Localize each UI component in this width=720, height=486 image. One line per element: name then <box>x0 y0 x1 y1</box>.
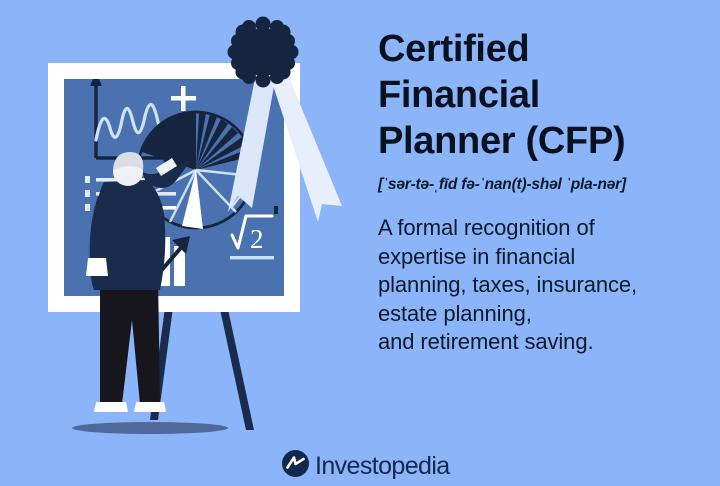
term-text-column: Certified Financial Planner (CFP) [ˈsər-… <box>378 26 708 357</box>
presenter-hand-left <box>86 258 108 276</box>
definition-card: 2 <box>0 0 720 486</box>
investopedia-logo: Investopedia <box>282 450 450 482</box>
floor-shadow <box>72 422 228 434</box>
presenter-shoe-right <box>134 402 166 412</box>
pronunciation-text: [ˈsər-tə-ˌfīd fə-ˈnan(t)-shəl ˈpla-nər] <box>378 176 708 194</box>
presenter-shoe-left <box>94 402 128 412</box>
page-title: Certified Financial Planner (CFP) <box>378 26 708 164</box>
definition-text: A formal recognition of expertise in fin… <box>378 214 708 357</box>
investopedia-wordmark: Investopedia <box>315 454 450 479</box>
radicand-value: 2 <box>250 224 264 254</box>
investopedia-logo-icon <box>282 450 309 482</box>
financial-planner-illustration: 2 <box>0 0 370 486</box>
